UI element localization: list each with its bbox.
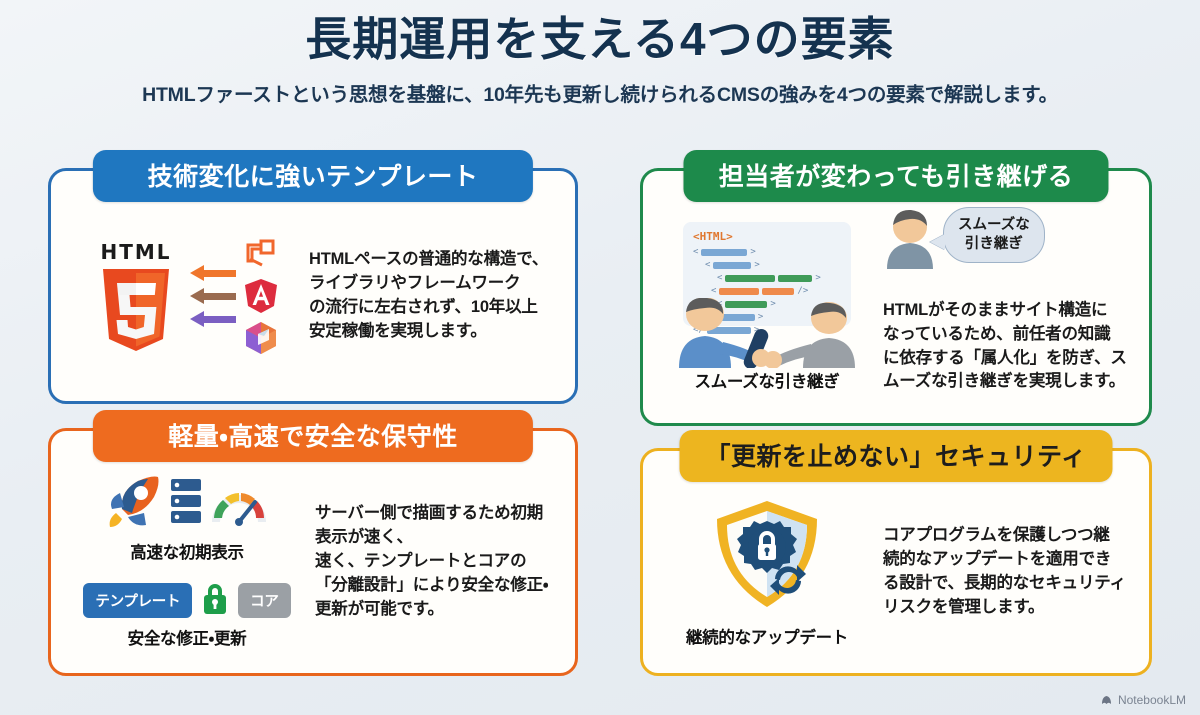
separation-design-diagram: テンプレート コア [83, 580, 290, 621]
header: 長期運用を支える4つの要素 HTMLファーストという思想を基盤に、10年先も更新… [0, 0, 1200, 107]
illustration-html5-frameworks: HTML [69, 205, 299, 387]
page-title: 長期運用を支える4つの要素 [0, 14, 1200, 66]
chip-template: テンプレート [83, 583, 192, 618]
cube-icon [242, 319, 280, 357]
server-icon [168, 477, 204, 534]
speedometer-icon [208, 480, 270, 531]
code-line: <> [693, 273, 841, 283]
lock-icon [200, 580, 230, 621]
arrow-left-brown-icon [190, 288, 236, 304]
illustration-performance: 高速な初期表示 テンプレート コア [69, 465, 305, 659]
code-line: </> [693, 286, 841, 296]
laravel-icon [242, 235, 280, 273]
person-with-speech-bubble: スムーズな 引き継ぎ [883, 207, 1133, 274]
card-body-template-resilience: HTMLペースの普通的な構造で、 ライブラリやフレームワーク の流行に左右されず… [309, 205, 559, 387]
card-body-handover: HTMLがそのままサイト構造に なっているため、前任者の知識 に依存する「属人化… [883, 284, 1133, 409]
code-line: <> [693, 260, 841, 270]
code-line: <> [693, 247, 841, 257]
card-body-performance: サーバー側で描画するため初期 表示が速く、 速く、テンプレートとコアの 「分離設… [315, 465, 559, 659]
notebooklm-label: NotebookLM [1118, 693, 1186, 707]
card-performance: 軽量・高速で安全な保守性 [48, 428, 578, 676]
arrow-left-orange-icon [190, 265, 236, 281]
cards-grid: 技術変化に強いテンプレート HTML [0, 150, 1200, 690]
angular-icon [242, 277, 280, 315]
card-template-resilience: 技術変化に強いテンプレート HTML [48, 168, 578, 404]
code-root-tag: <HTML> [693, 230, 841, 243]
arrow-left-purple-icon [190, 311, 236, 327]
card-handover: 担当者が変わっても引き継げる <HTML> <> <> [640, 168, 1152, 426]
html5-shield-icon [99, 267, 173, 353]
chip-core: コア [238, 583, 290, 618]
security-caption: 継続的なアップデート [686, 624, 848, 648]
speech-bubble: スムーズな 引き継ぎ [943, 207, 1045, 263]
avatar [883, 207, 937, 274]
framework-icons [242, 235, 280, 357]
notebooklm-icon [1100, 694, 1113, 707]
framework-arrows [190, 265, 236, 327]
card-body-security: コアプログラムを保護しつつ継 続的なアップデートを適用でき る設計で、長期的なセ… [883, 485, 1133, 659]
rocket-icon [104, 475, 164, 536]
page-subtitle: HTMLファーストという思想を基盤に、10年先も更新し続けられるCMSの強みを4… [0, 78, 1200, 107]
notebooklm-watermark: NotebookLM [1100, 693, 1186, 707]
handover-caption: スムーズな引き継ぎ [695, 368, 840, 392]
shield-lock-update-icon [704, 497, 830, 620]
performance-caption-top: 高速な初期表示 [130, 539, 243, 563]
illustration-security: 継続的なアップデート [661, 485, 873, 659]
infographic-page: 長期運用を支える4つの要素 HTMLファーストという思想を基盤に、10年先も更新… [0, 0, 1200, 715]
html5-logo: HTML [88, 240, 184, 353]
performance-caption-bottom: 安全な修正・更新 [128, 625, 247, 649]
html5-wordmark: HTML [88, 240, 184, 264]
illustration-handover: <HTML> <> <> <> </> [661, 205, 873, 409]
card-security: 「更新を止めない」セキュリティ [640, 448, 1152, 676]
handover-people-icon [661, 298, 873, 364]
